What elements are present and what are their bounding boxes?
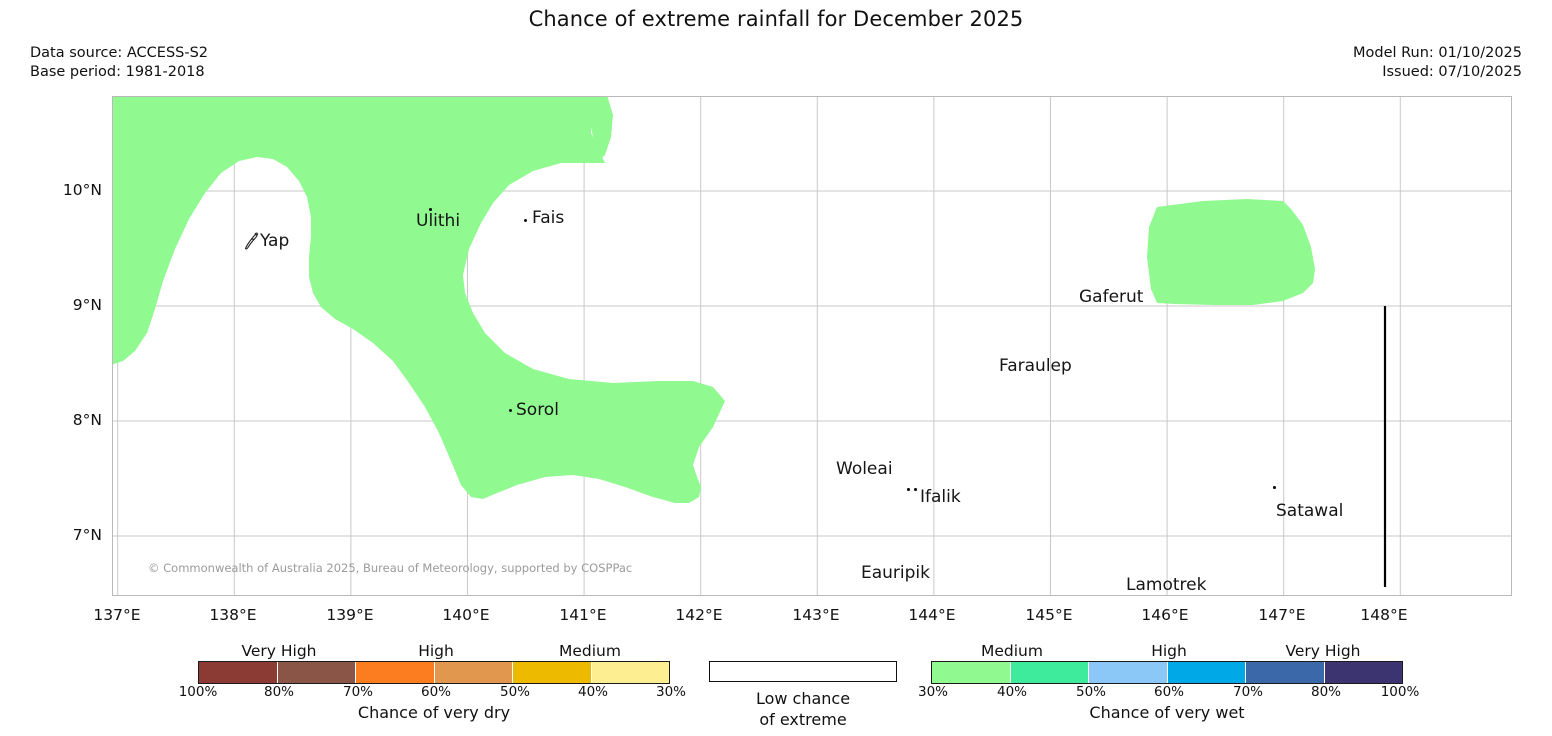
legend-dry-category-very-high: Very High <box>200 642 358 660</box>
legend-wet-tick-40: 40% <box>982 684 1042 700</box>
legend-wet-tick-100: 100% <box>1370 684 1430 700</box>
x-tick-137e: 137°E <box>72 606 162 624</box>
legend-dry-tick-70: 70% <box>328 684 388 700</box>
legend-dry-swatch-70-60[interactable] <box>356 662 435 683</box>
legend-wet-swatch-70-80[interactable] <box>1246 662 1325 683</box>
marker-satawal <box>1273 486 1276 489</box>
marker-sorol <box>509 409 512 412</box>
legend-dry-tick-80: 80% <box>249 684 309 700</box>
legend-dry-tick-60: 60% <box>406 684 466 700</box>
legend-low-chance-label: Low chance of extreme <box>709 688 897 730</box>
legend-wet-category-medium: Medium <box>933 642 1091 660</box>
place-label-fais: Fais <box>532 208 564 228</box>
legend-dry-swatch-100-80[interactable] <box>199 662 278 683</box>
legend-dry-colorbar[interactable] <box>198 661 670 684</box>
legend-wet-title: Chance of very wet <box>931 703 1403 722</box>
copyright-text: © Commonwealth of Australia 2025, Bureau… <box>148 561 632 575</box>
place-label-gaferut: Gaferut <box>1079 287 1143 307</box>
place-label-yap: Yap <box>260 231 289 251</box>
place-label-ulithi: Ulithi <box>416 211 460 231</box>
x-tick-146e: 146°E <box>1120 606 1210 624</box>
place-label-eauripik: Eauripik <box>861 563 930 583</box>
legend-dry-swatch-40-30[interactable] <box>592 662 670 683</box>
place-label-sorol: Sorol <box>516 400 559 420</box>
x-tick-147e: 147°E <box>1237 606 1327 624</box>
x-tick-138e: 138°E <box>188 606 278 624</box>
place-label-ifalik: Ifalik <box>920 487 961 507</box>
y-tick-9n: 9°N <box>32 296 102 314</box>
y-tick-7n: 7°N <box>32 526 102 544</box>
metadata-right: Model Run: 01/10/2025 Issued: 07/10/2025 <box>1353 44 1522 82</box>
shaded-region-northwest <box>113 97 725 503</box>
legend-dry-title: Chance of very dry <box>198 703 670 722</box>
page-title: Chance of extreme rainfall for December … <box>0 7 1552 31</box>
legend-dry-swatch-50-40[interactable] <box>513 662 592 683</box>
x-tick-145e: 145°E <box>1004 606 1094 624</box>
x-tick-143e: 143°E <box>771 606 861 624</box>
base-period-text: Base period: 1981-2018 <box>30 63 208 82</box>
x-tick-142e: 142°E <box>654 606 744 624</box>
legend-wet-swatch-50-60[interactable] <box>1089 662 1168 683</box>
legend-wet-swatch-30-40[interactable] <box>932 662 1011 683</box>
marker-fais <box>524 219 527 222</box>
legend-low-chance-line1: Low chance <box>709 688 897 709</box>
y-tick-8n: 8°N <box>32 411 102 429</box>
x-tick-140e: 140°E <box>421 606 511 624</box>
legend-wet-swatch-80-100[interactable] <box>1325 662 1403 683</box>
marker-ifalik-b <box>914 488 917 491</box>
legend-wet-category-very-high: Very High <box>1245 642 1401 660</box>
place-label-satawal: Satawal <box>1276 501 1343 521</box>
legend-wet-tick-70: 70% <box>1218 684 1278 700</box>
x-tick-148e: 148°E <box>1339 606 1429 624</box>
issued-text: Issued: 07/10/2025 <box>1353 63 1522 82</box>
legend-wet-tick-50: 50% <box>1061 684 1121 700</box>
legend-dry-tick-50: 50% <box>485 684 545 700</box>
metadata-left: Data source: ACCESS-S2 Base period: 1981… <box>30 44 208 82</box>
legend-dry-category-high: High <box>358 642 514 660</box>
legend-dry-tick-40: 40% <box>563 684 623 700</box>
place-label-faraulep: Faraulep <box>999 356 1072 376</box>
model-run-text: Model Run: 01/10/2025 <box>1353 44 1522 63</box>
legend-dry-category-medium: Medium <box>512 642 668 660</box>
legend-wet-category-high: High <box>1091 642 1247 660</box>
legend-dry-tick-100: 100% <box>168 684 228 700</box>
place-label-lamotrek: Lamotrek <box>1126 575 1206 595</box>
marker-ifalik-a <box>907 488 910 491</box>
shaded-region-gaferut <box>1147 199 1315 305</box>
legend-low-chance-swatch[interactable] <box>709 661 897 682</box>
legend-wet-swatch-60-70[interactable] <box>1168 662 1247 683</box>
legend-low-chance-line2: of extreme <box>709 709 897 730</box>
legend-wet-colorbar[interactable] <box>931 661 1403 684</box>
legend-wet-tick-60: 60% <box>1139 684 1199 700</box>
legend-dry-swatch-60-50[interactable] <box>435 662 514 683</box>
legend-dry-tick-30: 30% <box>641 684 701 700</box>
legend-wet-tick-80: 80% <box>1296 684 1356 700</box>
map-plot-area[interactable]: Yap Ulithi Fais Sorol Gaferut Faraulep W… <box>112 96 1512 596</box>
legend-wet-swatch-40-50[interactable] <box>1011 662 1090 683</box>
data-source-text: Data source: ACCESS-S2 <box>30 44 208 63</box>
x-tick-144e: 144°E <box>887 606 977 624</box>
y-tick-10n: 10°N <box>32 181 102 199</box>
legend-dry-swatch-80-70[interactable] <box>278 662 357 683</box>
map-graphics <box>113 97 1512 596</box>
x-tick-141e: 141°E <box>538 606 628 624</box>
legend-wet-tick-30: 30% <box>903 684 963 700</box>
place-label-woleai: Woleai <box>836 459 893 479</box>
x-tick-139e: 139°E <box>305 606 395 624</box>
